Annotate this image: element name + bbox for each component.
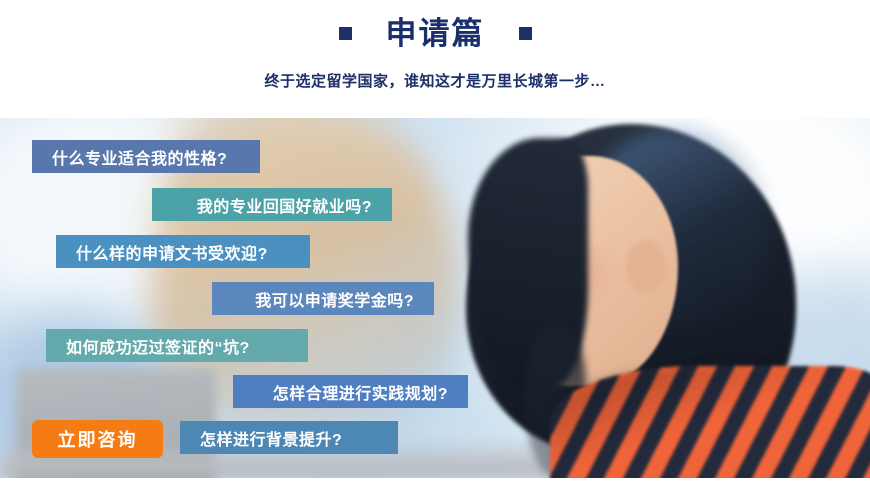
question-label-text: 如何成功迈过签证的“坑?: [66, 334, 250, 358]
question-label-text: 怎样合理进行实践规划?: [273, 380, 448, 404]
promo-banner-page: 申请篇 终于选定留学国家，谁知这才是万里长城第一步…: [0, 0, 870, 492]
consult-now-button[interactable]: 立即咨询: [32, 420, 163, 458]
question-label-text: 我可以申请奖学金吗?: [255, 287, 414, 311]
question-label[interactable]: 什么样的申请文书受欢迎?: [56, 235, 310, 268]
question-label-list: 什么专业适合我的性格? 我的专业回国好就业吗? 什么样的申请文书受欢迎? 我可以…: [0, 0, 870, 360]
question-label[interactable]: 我可以申请奖学金吗?: [212, 282, 434, 315]
question-label[interactable]: 什么专业适合我的性格?: [32, 140, 260, 173]
question-label[interactable]: 如何成功迈过签证的“坑?: [46, 329, 308, 362]
question-label-text: 怎样进行背景提升?: [200, 426, 342, 450]
question-label[interactable]: 怎样合理进行实践规划?: [233, 375, 468, 408]
question-label-text: 什么专业适合我的性格?: [52, 145, 227, 169]
question-label[interactable]: 我的专业回国好就业吗?: [152, 188, 392, 221]
question-label[interactable]: 怎样进行背景提升?: [180, 421, 398, 454]
question-label-text: 我的专业回国好就业吗?: [197, 193, 372, 217]
question-label-text: 什么样的申请文书受欢迎?: [76, 240, 268, 264]
shirt-shadow: [550, 366, 870, 478]
